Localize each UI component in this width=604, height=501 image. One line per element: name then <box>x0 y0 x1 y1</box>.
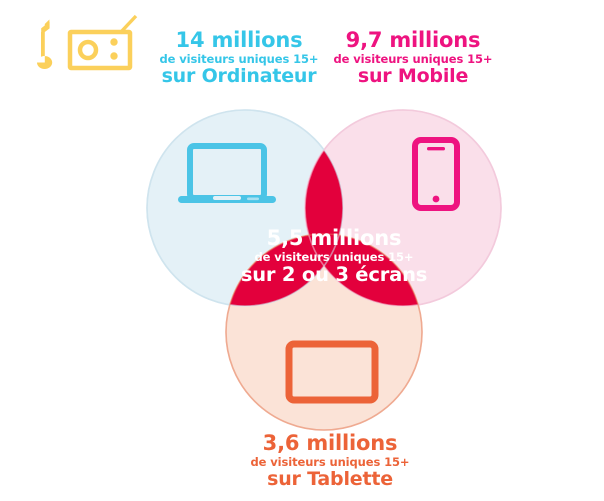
mobile-value: 9,7 millions <box>333 29 493 52</box>
center-device: sur 2 ou 3 écrans <box>234 264 434 285</box>
center-subtitle: de visiteurs uniques 15+ <box>234 251 434 263</box>
computer-subtitle: de visiteurs uniques 15+ <box>159 53 319 65</box>
infographic-canvas: 14 millions de visiteurs uniques 15+ sur… <box>0 0 604 501</box>
computer-device: sur Ordinateur <box>159 66 319 87</box>
center-value: 5,5 millions <box>234 227 434 250</box>
label-computer: 14 millions de visiteurs uniques 15+ sur… <box>159 29 319 87</box>
tablet-subtitle: de visiteurs uniques 15+ <box>239 456 421 468</box>
mobile-device: sur Mobile <box>333 66 493 87</box>
label-tablet: 3,6 millions de visiteurs uniques 15+ su… <box>239 432 421 490</box>
tablet-value: 3,6 millions <box>239 432 421 455</box>
label-mobile: 9,7 millions de visiteurs uniques 15+ su… <box>333 29 493 87</box>
label-center-overlap: 5,5 millions de visiteurs uniques 15+ su… <box>234 227 434 285</box>
tablet-device: sur Tablette <box>239 469 421 490</box>
computer-value: 14 millions <box>159 29 319 52</box>
mobile-subtitle: de visiteurs uniques 15+ <box>333 53 493 65</box>
